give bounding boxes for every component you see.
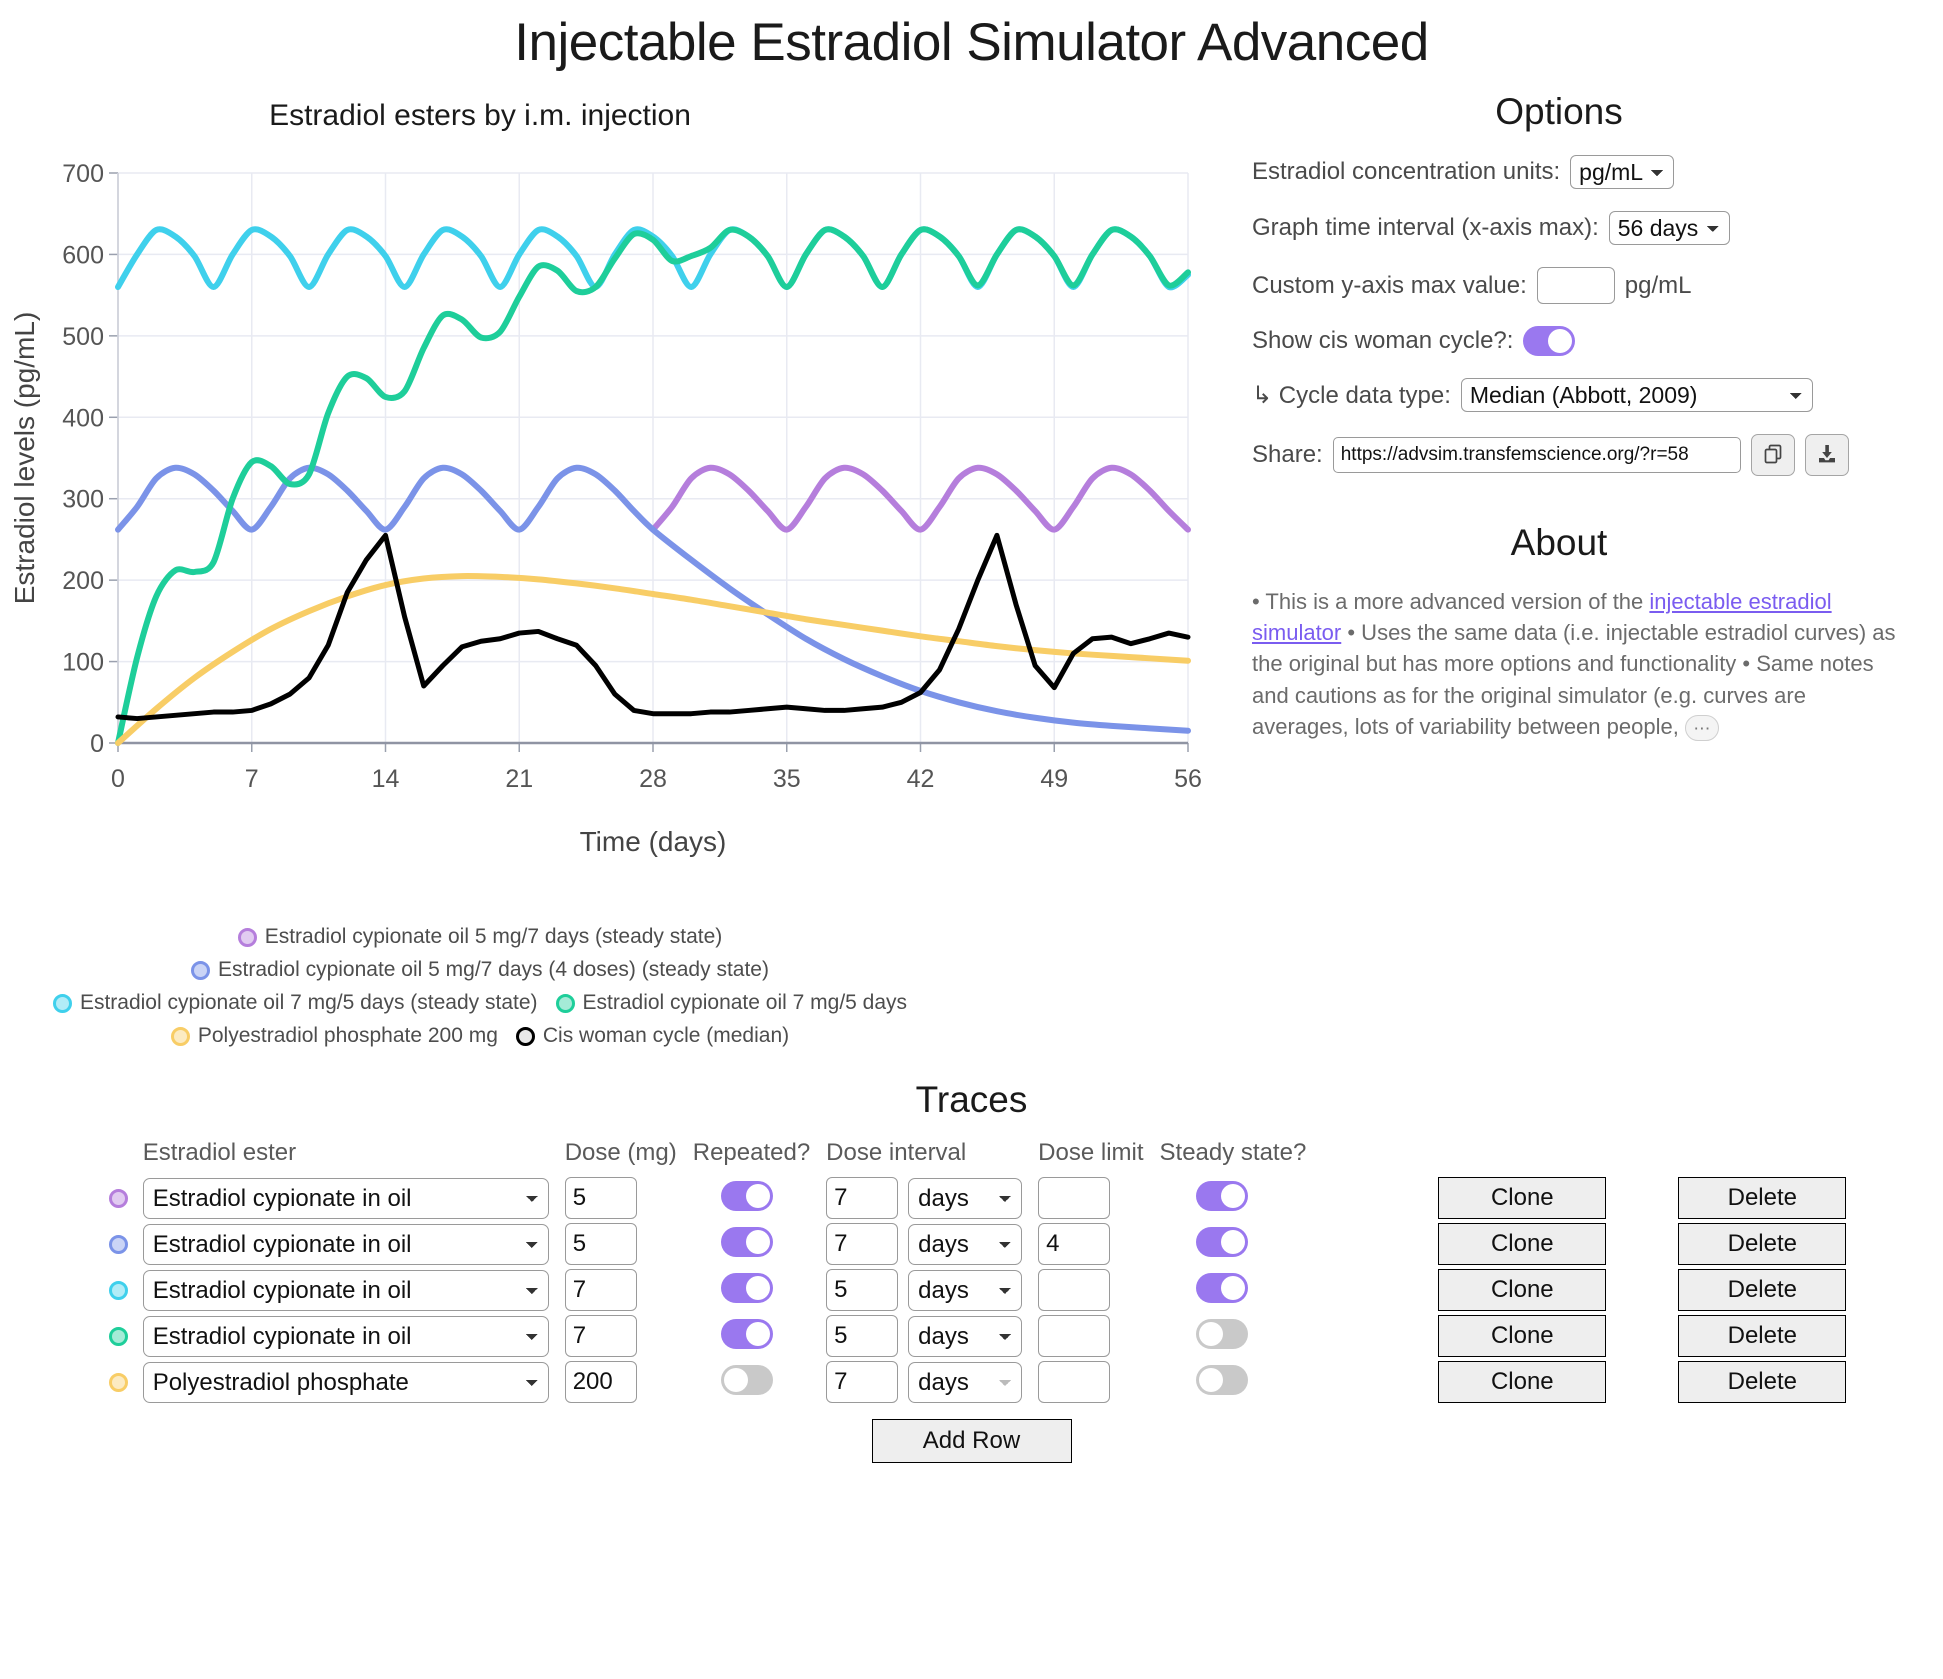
trace-ester-cell: Estradiol cypionate in oil [143, 1221, 549, 1267]
custom-ymax-label: Custom y-axis max value: [1252, 272, 1527, 300]
trace-dose-input[interactable] [565, 1177, 637, 1219]
trace-interval-group: days [826, 1269, 1022, 1311]
trace-dose-input[interactable] [565, 1361, 637, 1403]
trace-steady-toggle[interactable] [1196, 1365, 1248, 1395]
traces-col-actions [1306, 1139, 1846, 1175]
trace-interval-group: days [826, 1315, 1022, 1357]
legend-row: Estradiol cypionate oil 7 mg/5 days (ste… [0, 991, 960, 1015]
svg-text:Estradiol levels (pg/mL): Estradiol levels (pg/mL) [9, 312, 40, 605]
trace-interval-group: days [826, 1361, 1022, 1403]
units-label: Estradiol concentration units: [1252, 158, 1560, 186]
trace-steady-toggle[interactable] [1196, 1319, 1248, 1349]
download-icon [1815, 442, 1839, 469]
traces-col-steady: Steady state? [1144, 1139, 1307, 1175]
chart-title: Estradiol esters by i.m. injection [0, 99, 1230, 133]
trace-color-swatch [109, 1235, 128, 1254]
trace-dose-input[interactable] [565, 1315, 637, 1357]
trace-steady-cell [1144, 1221, 1307, 1267]
delete-button[interactable]: Delete [1678, 1361, 1846, 1403]
custom-ymax-row: Custom y-axis max value: pg/mL [1230, 267, 1943, 304]
chart-legend: Estradiol cypionate oil 5 mg/7 days (ste… [0, 925, 1230, 1048]
svg-text:21: 21 [505, 765, 533, 793]
traces-col-dose: Dose (mg) [549, 1139, 677, 1175]
trace-repeated-cell [677, 1313, 810, 1359]
traces-col-interval: Dose interval [810, 1139, 1022, 1175]
svg-text:35: 35 [773, 765, 801, 793]
svg-text:28: 28 [639, 765, 667, 793]
delete-button[interactable]: Delete [1678, 1269, 1846, 1311]
legend-row: Estradiol cypionate oil 5 mg/7 days (4 d… [0, 958, 960, 982]
custom-ymax-suffix: pg/mL [1625, 272, 1692, 300]
add-row-wrap: Add Row [0, 1419, 1943, 1463]
show-cycle-row: Show cis woman cycle?: [1230, 326, 1943, 356]
svg-text:400: 400 [62, 404, 104, 432]
legend-color-dot [238, 928, 257, 947]
traces-row: Estradiol cypionate in oildaysCloneDelet… [97, 1221, 1847, 1267]
about-text-part-2: • Uses the same data (i.e. injectable es… [1252, 620, 1896, 739]
trace-color-swatch [109, 1373, 128, 1392]
trace-limit-input[interactable] [1038, 1269, 1110, 1311]
svg-text:700: 700 [62, 160, 104, 188]
trace-limit-input[interactable] [1038, 1361, 1110, 1403]
delete-button[interactable]: Delete [1678, 1315, 1846, 1357]
trace-ester-select[interactable]: Estradiol cypionate in oil [143, 1178, 549, 1219]
legend-item[interactable]: Polyestradiol phosphate 200 mg [171, 1024, 498, 1048]
traces-col-ester: Estradiol ester [143, 1139, 549, 1175]
legend-item[interactable]: Estradiol cypionate oil 7 mg/5 days [556, 991, 908, 1015]
trace-interval-input[interactable] [826, 1177, 898, 1219]
trace-steady-cell [1144, 1313, 1307, 1359]
trace-interval-unit-select[interactable]: days [908, 1224, 1022, 1265]
trace-dose-input[interactable] [565, 1223, 637, 1265]
trace-interval-cell: days [810, 1267, 1022, 1313]
traces-col-color [97, 1139, 143, 1175]
trace-actions-cell: CloneDelete [1306, 1313, 1846, 1359]
trace-interval-cell: days [810, 1359, 1022, 1405]
trace-actions-cell: CloneDelete [1306, 1359, 1846, 1405]
options-heading: Options [1230, 91, 1943, 133]
trace-ester-select[interactable]: Estradiol cypionate in oil [143, 1316, 549, 1357]
legend-label: Cis woman cycle (median) [543, 1024, 789, 1048]
share-label: Share: [1252, 441, 1323, 469]
trace-ester-select[interactable]: Estradiol cypionate in oil [143, 1270, 549, 1311]
trace-interval-cell: days [810, 1221, 1022, 1267]
svg-text:7: 7 [245, 765, 259, 793]
app-root: Injectable Estradiol Simulator Advanced … [0, 0, 1943, 1679]
time-interval-select[interactable]: 56 days [1609, 211, 1730, 245]
clone-button[interactable]: Clone [1438, 1315, 1606, 1357]
trace-actions-cell: CloneDelete [1306, 1267, 1846, 1313]
trace-dose-cell [549, 1221, 677, 1267]
cycle-data-type-label: ↳ Cycle data type: [1252, 381, 1451, 410]
svg-text:0: 0 [90, 730, 104, 758]
expand-about-button[interactable]: ⋯ [1685, 715, 1719, 741]
trace-repeated-cell [677, 1221, 810, 1267]
trace-interval-input[interactable] [826, 1315, 898, 1357]
svg-text:42: 42 [907, 765, 935, 793]
top-area: Estradiol esters by i.m. injection 01002… [0, 73, 1943, 1057]
trace-repeated-toggle[interactable] [721, 1365, 773, 1395]
trace-dose-cell [549, 1359, 677, 1405]
cycle-data-type-row: ↳ Cycle data type: Median (Abbott, 2009) [1230, 378, 1943, 412]
traces-col-limit: Dose limit [1022, 1139, 1143, 1175]
trace-dose-cell [549, 1313, 677, 1359]
legend-color-dot [171, 1027, 190, 1046]
custom-ymax-input[interactable] [1537, 267, 1615, 304]
options-column: Options Estradiol concentration units: p… [1230, 73, 1943, 1057]
delete-button[interactable]: Delete [1678, 1177, 1846, 1219]
trace-actions-cell: CloneDelete [1306, 1175, 1846, 1221]
trace-limit-cell [1022, 1267, 1143, 1313]
trace-ester-cell: Estradiol cypionate in oil [143, 1267, 549, 1313]
clone-button[interactable]: Clone [1438, 1361, 1606, 1403]
traces-col-repeated: Repeated? [677, 1139, 810, 1175]
cycle-data-type-select[interactable]: Median (Abbott, 2009) [1461, 378, 1813, 412]
add-row-button[interactable]: Add Row [872, 1419, 1072, 1463]
estradiol-line-chart: 01002003004005006007000714212835424956Ti… [0, 133, 1230, 923]
trace-repeated-cell [677, 1175, 810, 1221]
svg-text:300: 300 [62, 486, 104, 514]
about-text: • This is a more advanced version of the… [1230, 586, 1943, 742]
legend-color-dot [556, 994, 575, 1013]
trace-repeated-cell [677, 1267, 810, 1313]
legend-item[interactable]: Cis woman cycle (median) [516, 1024, 789, 1048]
trace-dose-input[interactable] [565, 1269, 637, 1311]
trace-interval-unit-select[interactable]: days [908, 1178, 1022, 1219]
units-select[interactable]: pg/mL [1570, 155, 1674, 189]
trace-actions-cell: CloneDelete [1306, 1221, 1846, 1267]
trace-repeated-toggle[interactable] [721, 1181, 773, 1211]
traces-row: Estradiol cypionate in oildaysCloneDelet… [97, 1313, 1847, 1359]
trace-interval-unit-select[interactable]: days [908, 1316, 1022, 1357]
traces-table: Estradiol ester Dose (mg) Repeated? Dose… [97, 1139, 1847, 1405]
legend-color-dot [191, 961, 210, 980]
trace-steady-cell [1144, 1267, 1307, 1313]
svg-text:Time (days): Time (days) [580, 826, 727, 857]
trace-interval-cell: days [810, 1175, 1022, 1221]
legend-label: Estradiol cypionate oil 7 mg/5 days [583, 991, 908, 1015]
svg-text:0: 0 [111, 765, 125, 793]
svg-text:49: 49 [1040, 765, 1068, 793]
about-text-part-1: • This is a more advanced version of the [1252, 589, 1649, 614]
clone-button[interactable]: Clone [1438, 1269, 1606, 1311]
traces-row: Estradiol cypionate in oildaysCloneDelet… [97, 1267, 1847, 1313]
trace-steady-toggle[interactable] [1196, 1181, 1248, 1211]
trace-color-swatch [109, 1189, 128, 1208]
trace-steady-cell [1144, 1359, 1307, 1405]
show-cycle-label: Show cis woman cycle?: [1252, 327, 1513, 355]
trace-color-cell [97, 1267, 143, 1313]
trace-interval-input[interactable] [826, 1269, 898, 1311]
trace-color-swatch [109, 1281, 128, 1300]
trace-color-cell [97, 1175, 143, 1221]
trace-interval-unit-select[interactable]: days [908, 1362, 1022, 1403]
units-row: Estradiol concentration units: pg/mL [1230, 155, 1943, 189]
svg-text:56: 56 [1174, 765, 1202, 793]
svg-text:200: 200 [62, 567, 104, 595]
trace-limit-input[interactable] [1038, 1315, 1110, 1357]
trace-limit-cell [1022, 1175, 1143, 1221]
traces-row: Polyestradiol phosphatedaysCloneDelete [97, 1359, 1847, 1405]
svg-text:14: 14 [372, 765, 400, 793]
trace-ester-cell: Polyestradiol phosphate [143, 1359, 549, 1405]
legend-row: Polyestradiol phosphate 200 mgCis woman … [0, 1024, 960, 1048]
trace-steady-toggle[interactable] [1196, 1227, 1248, 1257]
legend-item[interactable]: Estradiol cypionate oil 5 mg/7 days (4 d… [191, 958, 769, 982]
trace-color-cell [97, 1221, 143, 1267]
copy-link-button[interactable] [1751, 434, 1795, 476]
trace-repeated-toggle[interactable] [721, 1319, 773, 1349]
trace-dose-cell [549, 1267, 677, 1313]
trace-ester-cell: Estradiol cypionate in oil [143, 1313, 549, 1359]
trace-ester-cell: Estradiol cypionate in oil [143, 1175, 549, 1221]
trace-color-cell [97, 1313, 143, 1359]
trace-color-cell [97, 1359, 143, 1405]
trace-ester-select[interactable]: Polyestradiol phosphate [143, 1362, 549, 1403]
legend-label: Estradiol cypionate oil 5 mg/7 days (ste… [265, 925, 723, 949]
trace-interval-unit-select[interactable]: days [908, 1270, 1022, 1311]
svg-text:600: 600 [62, 241, 104, 269]
share-row: Share: [1230, 434, 1943, 476]
trace-limit-input[interactable] [1038, 1177, 1110, 1219]
time-interval-label: Graph time interval (x-axis max): [1252, 214, 1599, 242]
trace-limit-cell [1022, 1359, 1143, 1405]
legend-label: Estradiol cypionate oil 5 mg/7 days (4 d… [218, 958, 769, 982]
traces-row: Estradiol cypionate in oildaysCloneDelet… [97, 1175, 1847, 1221]
share-url-input[interactable] [1333, 437, 1741, 473]
svg-text:100: 100 [62, 649, 104, 677]
trace-color-swatch [109, 1327, 128, 1346]
copy-icon [1761, 442, 1785, 469]
trace-interval-group: days [826, 1177, 1022, 1219]
legend-label: Estradiol cypionate oil 7 mg/5 days (ste… [80, 991, 538, 1015]
clone-button[interactable]: Clone [1438, 1177, 1606, 1219]
trace-ester-select[interactable]: Estradiol cypionate in oil [143, 1224, 549, 1265]
delete-button[interactable]: Delete [1678, 1223, 1846, 1265]
legend-color-dot [516, 1027, 535, 1046]
trace-steady-cell [1144, 1175, 1307, 1221]
download-button[interactable] [1805, 434, 1849, 476]
traces-heading: Traces [0, 1079, 1943, 1121]
time-interval-row: Graph time interval (x-axis max): 56 day… [1230, 211, 1943, 245]
trace-repeated-toggle[interactable] [721, 1273, 773, 1303]
trace-interval-group: days [826, 1223, 1022, 1265]
about-heading: About [1230, 522, 1943, 564]
page-title: Injectable Estradiol Simulator Advanced [0, 0, 1943, 73]
trace-interval-cell: days [810, 1313, 1022, 1359]
legend-item[interactable]: Estradiol cypionate oil 7 mg/5 days (ste… [53, 991, 538, 1015]
trace-steady-toggle[interactable] [1196, 1273, 1248, 1303]
clone-button[interactable]: Clone [1438, 1223, 1606, 1265]
trace-repeated-toggle[interactable] [721, 1227, 773, 1257]
trace-interval-input[interactable] [826, 1223, 898, 1265]
traces-header-row: Estradiol ester Dose (mg) Repeated? Dose… [97, 1139, 1847, 1175]
legend-label: Polyestradiol phosphate 200 mg [198, 1024, 498, 1048]
legend-row: Estradiol cypionate oil 5 mg/7 days (ste… [0, 925, 960, 949]
legend-item[interactable]: Estradiol cypionate oil 5 mg/7 days (ste… [238, 925, 723, 949]
trace-interval-input[interactable] [826, 1361, 898, 1403]
chart-column: Estradiol esters by i.m. injection 01002… [0, 73, 1230, 1057]
show-cycle-toggle[interactable] [1523, 326, 1575, 356]
trace-dose-cell [549, 1175, 677, 1221]
trace-limit-input[interactable] [1038, 1223, 1110, 1265]
trace-repeated-cell [677, 1359, 810, 1405]
traces-section: Traces Estradiol ester Dose (mg) Repeate… [0, 1079, 1943, 1463]
trace-limit-cell [1022, 1221, 1143, 1267]
legend-color-dot [53, 994, 72, 1013]
svg-text:500: 500 [62, 323, 104, 351]
trace-limit-cell [1022, 1313, 1143, 1359]
chart-plot-area: 01002003004005006007000714212835424956Ti… [0, 133, 1230, 923]
